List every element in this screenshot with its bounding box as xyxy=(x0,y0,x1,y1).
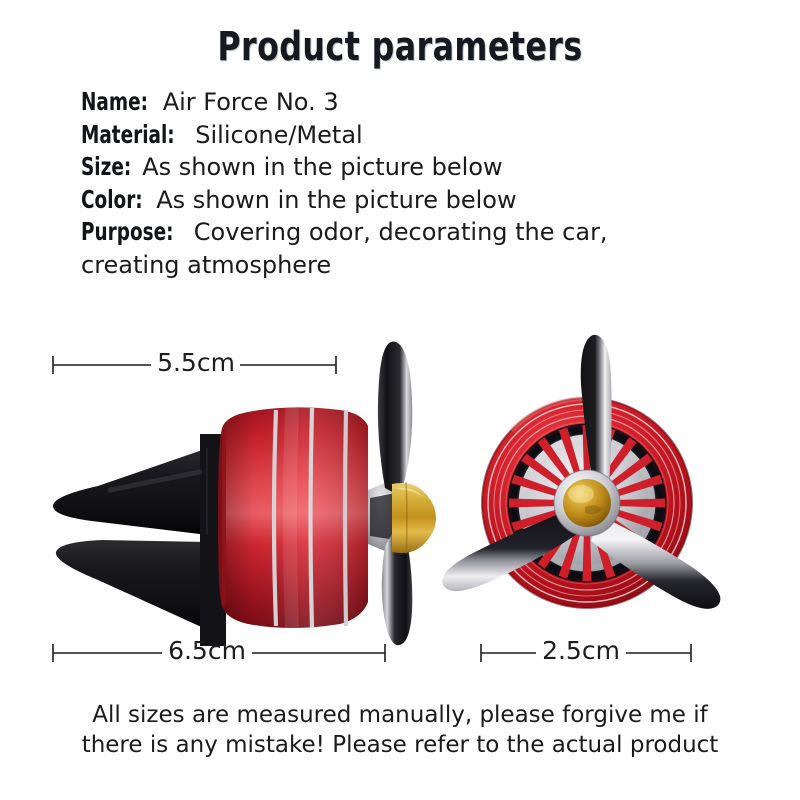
red-body xyxy=(218,407,368,628)
spec-value-purpose-continued: creating atmosphere xyxy=(81,249,741,282)
spec-row-size: Size:As shown in the picture below xyxy=(81,151,741,184)
vent-clip xyxy=(53,434,226,646)
disclaimer-note: All sizes are measured manually, please … xyxy=(0,700,800,760)
disclaimer-line-1: All sizes are measured manually, please … xyxy=(0,700,800,730)
spec-value-purpose: Covering odor, decorating the car, xyxy=(194,218,608,246)
spec-list: Name:Air Force No. 3 Material:Silicone/M… xyxy=(81,86,741,281)
product-parameters-page: Product parameters Name:Air Force No. 3 … xyxy=(0,0,800,800)
spec-value-size: As shown in the picture below xyxy=(142,153,502,181)
page-title: Product parameters xyxy=(48,24,752,70)
spec-value-name: Air Force No. 3 xyxy=(163,88,339,116)
spec-value-color: As shown in the picture below xyxy=(156,186,516,214)
spec-label-purpose: Purpose: xyxy=(81,216,173,249)
spec-label-name: Name: xyxy=(81,86,148,119)
dimension-side-length: 6.5cm xyxy=(50,640,390,670)
dimension-front-depth: 2.5cm xyxy=(478,640,696,670)
spec-label-material: Material: xyxy=(81,119,175,152)
disclaimer-line-2: there is any mistake! Please refer to th… xyxy=(0,730,800,760)
dimension-side-width: 5.5cm xyxy=(50,352,350,382)
spec-row-color: Color:As shown in the picture below xyxy=(81,184,741,217)
spec-value-material: Silicone/Metal xyxy=(195,121,362,149)
dimension-label-front-depth: 2.5cm xyxy=(539,636,623,665)
spec-label-color: Color: xyxy=(81,184,143,217)
spec-row-name: Name:Air Force No. 3 xyxy=(81,86,741,119)
air-freshener-front-view xyxy=(415,330,765,640)
spec-label-size: Size: xyxy=(81,151,131,184)
spec-row-purpose: Purpose:Covering odor, decorating the ca… xyxy=(81,216,741,249)
dimension-label-side-width: 5.5cm xyxy=(154,348,238,377)
dimension-label-side-length: 6.5cm xyxy=(165,636,249,665)
spec-row-material: Material:Silicone/Metal xyxy=(81,119,741,152)
gold-hub xyxy=(554,470,620,536)
